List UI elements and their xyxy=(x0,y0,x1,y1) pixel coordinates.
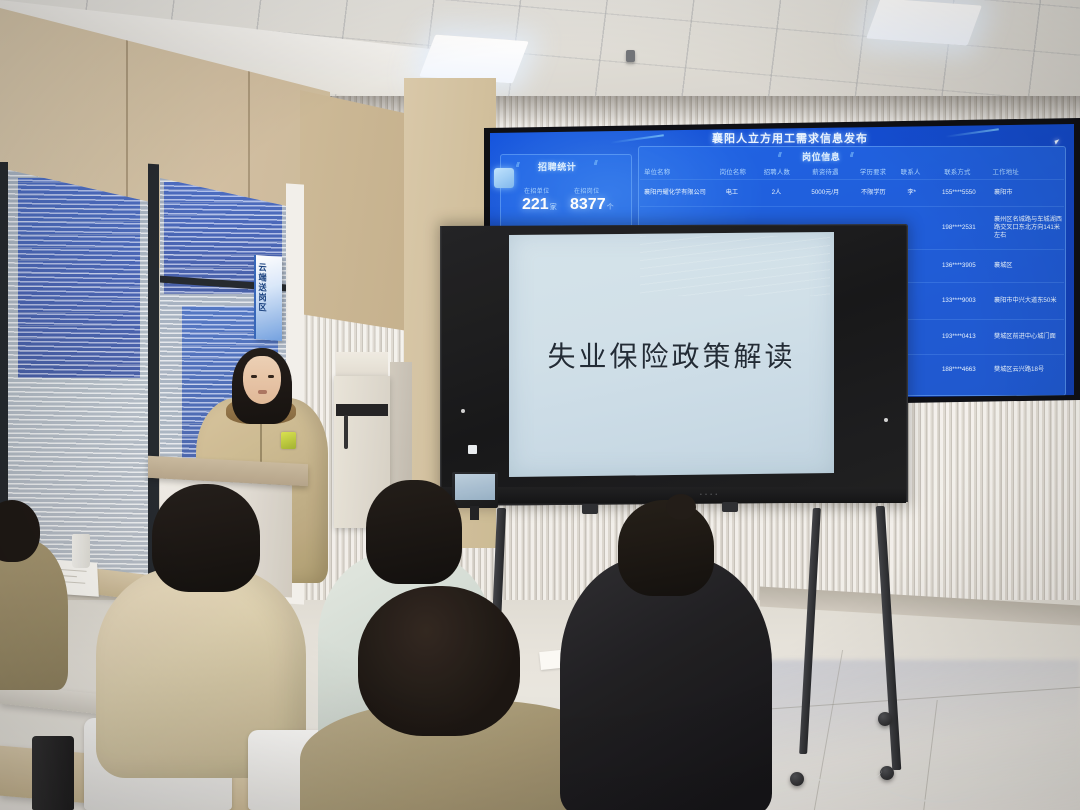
attendee-hair xyxy=(618,500,714,596)
stat-unit: 家 xyxy=(550,204,557,211)
stat-value: 8377个 xyxy=(570,196,614,214)
cell-phone: 136****3905 xyxy=(928,260,990,272)
cell-address: 樊城区云兴路18号 xyxy=(990,364,1064,376)
cell-address: 襄阳市中兴大道东50米 xyxy=(990,295,1064,307)
cell-phone: 155****5550 xyxy=(928,187,990,199)
stand-bracket xyxy=(582,504,598,514)
led-decor-line xyxy=(945,128,999,137)
stats-title: 招聘统计 xyxy=(538,160,576,173)
cell-headcount: 2人 xyxy=(753,187,799,199)
table-row[interactable]: 襄阳丹耀化学有限公司 电工 2人 5000元/月 不限学历 李* 155****… xyxy=(640,179,1064,206)
stat-value: 221家 xyxy=(522,196,557,214)
cell-phone: 188****4663 xyxy=(928,364,990,376)
speaker-eye xyxy=(251,375,257,378)
display-indicator-icon xyxy=(884,418,888,422)
col-company: 单位名称 xyxy=(640,167,712,176)
desk-monitor-stand xyxy=(470,506,479,520)
cell-phone: 133****9003 xyxy=(928,295,990,307)
cell-address: 樊城区前进中心城门面 xyxy=(990,331,1064,343)
power-cable xyxy=(806,756,882,784)
speaker-face xyxy=(243,356,281,404)
jobs-title: 岗位信息 xyxy=(802,150,840,163)
col-salary: 薪资待遇 xyxy=(800,167,851,176)
display-brand-logo: • • • • xyxy=(700,492,718,498)
cell-company: 襄阳丹耀化学有限公司 xyxy=(640,187,711,199)
cell-salary: 5000元/月 xyxy=(800,187,852,199)
speaker-badge xyxy=(281,432,296,449)
cell-education: 不限学历 xyxy=(851,187,896,199)
cell-address: 襄城区 xyxy=(990,260,1064,272)
cell-contact: 李* xyxy=(896,187,928,199)
col-contact: 联系人 xyxy=(895,167,926,176)
cell-phone: 198****2531 xyxy=(928,222,990,234)
col-education: 学历要求 xyxy=(851,167,895,176)
stand-caster xyxy=(878,712,892,726)
stand-bracket xyxy=(722,502,738,512)
decor-slashes: /// xyxy=(594,160,597,167)
presentation-screen[interactable]: 失业保险政策解读 xyxy=(509,232,834,477)
attendee-coat xyxy=(0,540,68,690)
attendee-hair xyxy=(366,480,462,584)
meeting-room-photo: 云端送岗区 襄阳人立方用工需求信息发布 招聘统计 /// /// 在招单位 22… xyxy=(0,0,1080,810)
stand-caster xyxy=(790,772,804,786)
speaker-eye xyxy=(268,375,274,378)
wall-sign-cloud-job-area: 云端送岗区 xyxy=(254,255,282,341)
cell-address: 襄州区名城路与车城湖西路交叉口东北方向141米左右 xyxy=(990,214,1064,241)
speaker-mouth xyxy=(258,390,267,394)
slide-title: 失业保险政策解读 xyxy=(547,335,795,375)
ceiling-sensor-icon xyxy=(626,50,635,62)
decor-slashes: /// xyxy=(516,162,519,169)
col-address: 工作地址 xyxy=(989,167,1064,176)
wall-sign-label: 云端送岗区 xyxy=(257,255,269,313)
col-position: 岗位名称 xyxy=(712,167,754,176)
cell-address: 襄阳市 xyxy=(990,187,1064,199)
ceiling-panel-light xyxy=(866,0,982,46)
display-power-button[interactable] xyxy=(468,445,477,454)
cell-phone: 193****0413 xyxy=(928,331,990,343)
cell-position: 电工 xyxy=(711,187,754,199)
led-wall-header: 襄阳人立方用工需求信息发布 xyxy=(640,130,940,146)
stat-unit: 个 xyxy=(607,204,614,211)
recruitment-icon xyxy=(494,168,514,188)
water-dispenser-control-panel[interactable] xyxy=(336,404,388,416)
paper-cup xyxy=(72,534,90,568)
ceiling-panel-light xyxy=(419,35,529,84)
decor-slashes: /// xyxy=(778,152,781,159)
attendee-hair xyxy=(152,484,260,592)
jobs-table-header: 单位名称 岗位名称 招聘人数 薪资待遇 学历要求 联系人 联系方式 工作地址 xyxy=(640,164,1064,179)
stat-label: 在招单位 xyxy=(524,186,550,195)
col-headcount: 招聘人数 xyxy=(754,167,800,176)
decor-slashes: /// xyxy=(850,152,853,159)
stat-label: 在招岗位 xyxy=(574,186,600,195)
mouse-pointer-icon xyxy=(1055,139,1061,144)
water-dispenser-tap-icon[interactable] xyxy=(344,415,348,449)
trash-bin xyxy=(32,736,74,810)
desk-monitor-screen xyxy=(455,474,495,500)
col-phone: 联系方式 xyxy=(926,167,988,176)
attendee-hair xyxy=(358,586,520,736)
display-indicator-icon xyxy=(461,409,465,413)
attendee-hair-bun xyxy=(666,494,696,520)
